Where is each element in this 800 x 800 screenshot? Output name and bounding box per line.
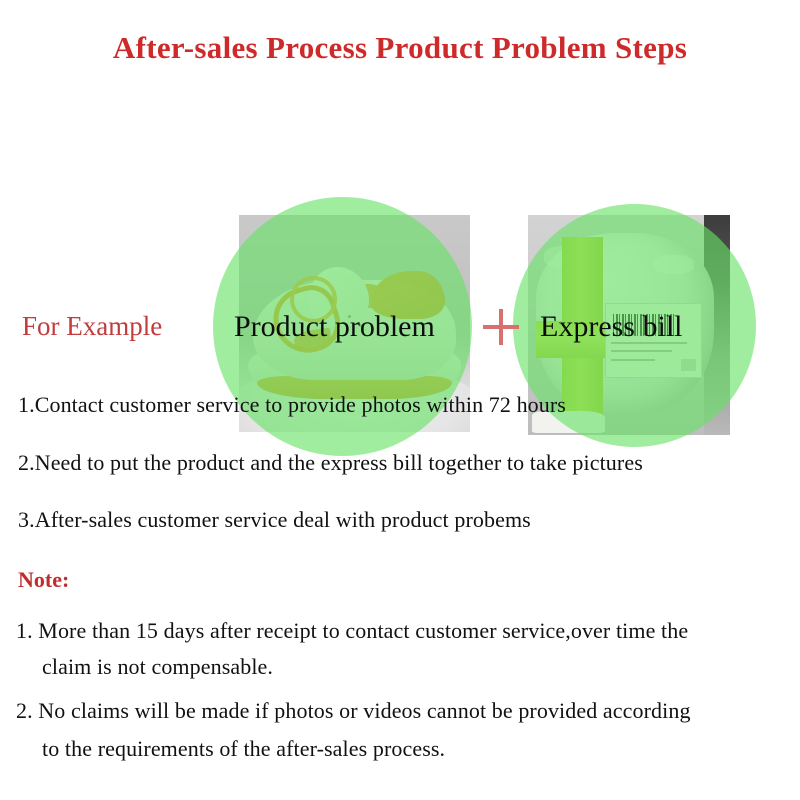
- label-text-line: [611, 359, 655, 361]
- plus-icon: [483, 309, 519, 345]
- product-problem-caption: Product problem: [234, 312, 435, 342]
- express-bill-caption: Express bill: [540, 312, 683, 342]
- label-text-line: [611, 350, 672, 352]
- page-title: After-sales Process Product Problem Step…: [0, 30, 800, 66]
- step-item-3: 3.After-sales customer service deal with…: [18, 507, 531, 533]
- note-item-2-line-2: to the requirements of the after-sales p…: [42, 736, 445, 762]
- parcel-wrap-fold: [653, 255, 693, 275]
- step-item-1: 1.Contact customer service to provide ph…: [18, 392, 566, 418]
- note-item-1-line-2: claim is not compensable.: [42, 654, 273, 680]
- note-heading: Note:: [18, 567, 69, 593]
- example-row: For Example: [0, 100, 800, 350]
- note-item-2-line-1: 2. No claims will be made if photos or v…: [16, 698, 691, 724]
- after-sales-process-infographic: After-sales Process Product Problem Step…: [0, 0, 800, 800]
- step-item-2: 2.Need to put the product and the expres…: [18, 450, 643, 476]
- label-stamp: [681, 359, 696, 371]
- note-item-1-line-1: 1. More than 15 days after receipt to co…: [16, 618, 688, 644]
- for-example-label: For Example: [22, 311, 162, 342]
